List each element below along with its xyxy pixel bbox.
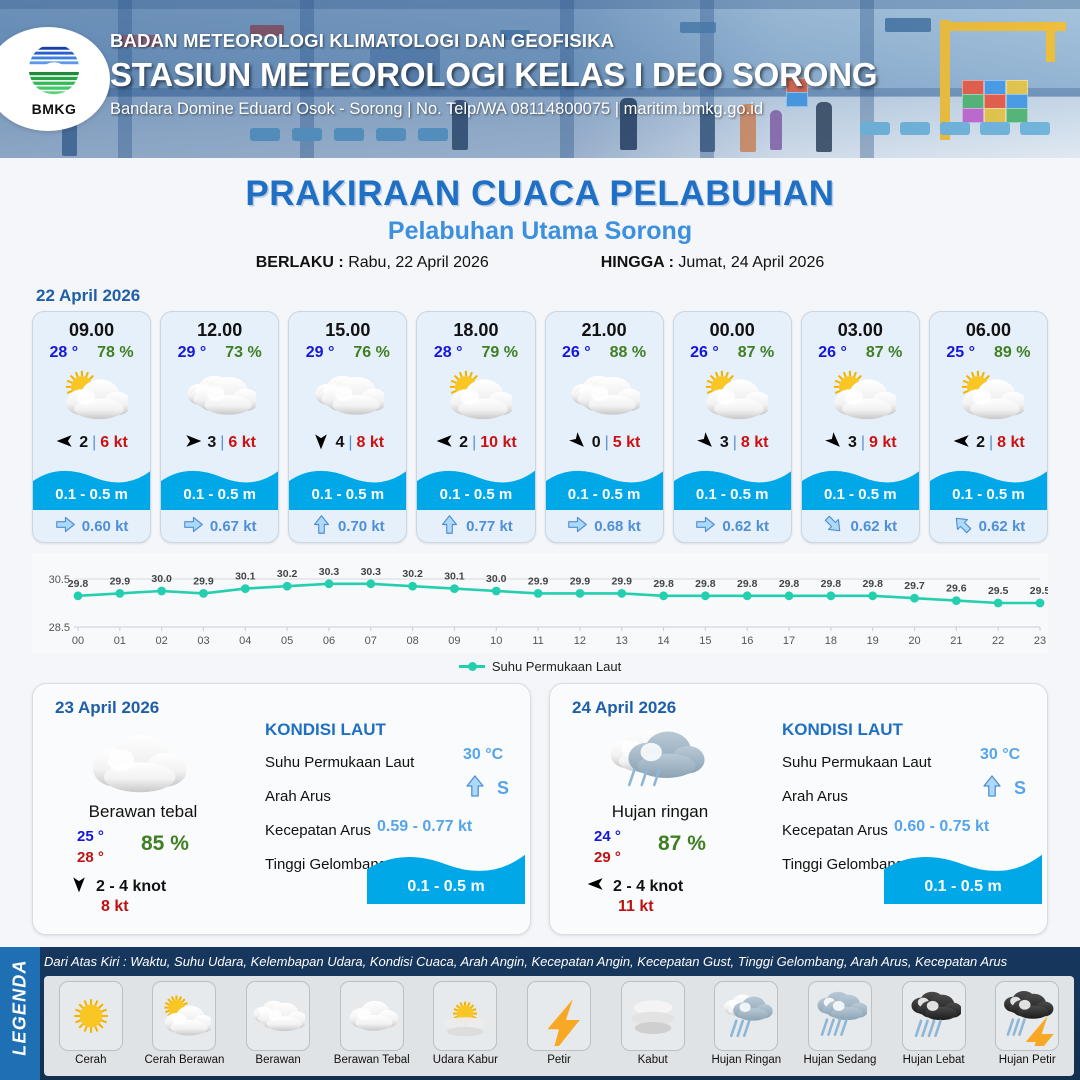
- card-wave-height: 0.1 - 0.5 m: [930, 486, 1047, 503]
- weather-hujan-petir-icon: [995, 981, 1059, 1051]
- legend-item-label: Hujan Sedang: [803, 1054, 876, 1066]
- legend-item: Cerah Berawan: [138, 976, 232, 1076]
- wind-direction-arrow-icon: [568, 431, 588, 456]
- card-wave-height: 0.1 - 0.5 m: [674, 486, 791, 503]
- card-wind: 2 | 8 kt: [930, 426, 1047, 460]
- card-temp-humidity: 28 ° 79 %: [417, 341, 534, 362]
- hourly-card: 12.00 29 ° 73 % 3 | 6 kt 0.1 - 0.5 m: [160, 311, 279, 543]
- weather-hujan-lebat-icon: [902, 981, 966, 1051]
- svg-text:29.8: 29.8: [821, 578, 842, 590]
- sea-value-wave: 0.1 - 0.5 m: [884, 844, 1042, 904]
- weather-udara-kabur-icon: [433, 981, 497, 1051]
- svg-text:21: 21: [950, 635, 962, 647]
- card-humidity: 76 %: [353, 344, 389, 362]
- svg-text:18: 18: [825, 635, 837, 647]
- weather-cerah-berawan-icon: [802, 364, 919, 426]
- daily-temp-max: 28 °: [77, 847, 104, 868]
- card-temperature: 29 °: [178, 344, 207, 362]
- current-direction-arrow-icon: [567, 514, 588, 539]
- wind-direction-arrow-icon: [311, 431, 331, 456]
- current-direction-arrow-icon: [952, 514, 973, 539]
- card-temperature: 26 °: [562, 344, 591, 362]
- card-wind-speed: 2: [79, 434, 88, 452]
- legend-icon-panel: Cerah Cerah Berawan Berawan: [44, 976, 1074, 1076]
- card-wave-height: 0.1 - 0.5 m: [33, 486, 150, 503]
- card-gust: 6 kt: [228, 434, 256, 452]
- card-hour: 18.00: [417, 312, 534, 341]
- card-wind-speed: 2: [976, 434, 985, 452]
- chart-legend: Suhu Permukaan Laut: [0, 659, 1080, 674]
- card-temp-humidity: 26 ° 87 %: [802, 341, 919, 362]
- legend-item: Berawan: [231, 976, 325, 1076]
- legend-item-label: Berawan: [255, 1054, 300, 1066]
- daily-condition: Hujan ringan: [550, 802, 770, 822]
- weather-cerah-berawan-icon: [152, 981, 216, 1051]
- legend-side-label: LEGENDA: [10, 958, 31, 1058]
- card-wind-speed: 4: [335, 434, 344, 452]
- card-wave-height: 0.1 - 0.5 m: [161, 486, 278, 503]
- weather-berawan-icon: [246, 981, 310, 1051]
- svg-text:30.3: 30.3: [361, 566, 382, 578]
- wind-direction-arrow-icon: [435, 431, 455, 456]
- daily-gust: 11 kt: [618, 898, 654, 916]
- daily-temp-min: 24 °: [594, 826, 621, 847]
- daily-temps: 24 ° 29 °: [594, 826, 621, 868]
- card-current-speed: 0.77 kt: [466, 518, 513, 535]
- current-dir-label: S: [497, 778, 509, 799]
- svg-text:30.2: 30.2: [277, 568, 298, 580]
- daily-humidity: 85 %: [141, 832, 189, 856]
- card-gust: 10 kt: [480, 434, 516, 452]
- page-header: BMKG BADAN METEOROLOGI KLIMATOLOGI DAN G…: [0, 0, 1080, 158]
- legend-item-label: Berawan Tebal: [334, 1054, 410, 1066]
- legend-bar: LEGENDA Dari Atas Kiri : Waktu, Suhu Uda…: [0, 947, 1080, 1080]
- card-wind-speed: 3: [848, 434, 857, 452]
- daily-humidity: 87 %: [658, 832, 706, 856]
- bmkg-logo-mark: [25, 42, 83, 100]
- current-direction-arrow-icon: [695, 514, 716, 539]
- svg-text:07: 07: [365, 635, 377, 647]
- sea-wave-label: 0.1 - 0.5 m: [367, 878, 525, 896]
- daily-wind: 2 - 4 knot: [69, 874, 166, 899]
- weather-cerah-icon: [59, 981, 123, 1051]
- card-wave: 0.1 - 0.5 m: [417, 460, 534, 510]
- card-wind: 3 | 8 kt: [674, 426, 791, 460]
- card-gust: 8 kt: [741, 434, 769, 452]
- card-temp-humidity: 26 ° 88 %: [546, 341, 663, 362]
- svg-text:23: 23: [1034, 635, 1046, 647]
- weather-berawan-icon: [161, 364, 278, 426]
- svg-text:29.9: 29.9: [528, 575, 549, 587]
- sea-value-current-speed: 0.59 - 0.77 kt: [377, 818, 472, 836]
- card-hour: 21.00: [546, 312, 663, 341]
- svg-text:02: 02: [156, 635, 168, 647]
- hourly-card: 03.00 26 ° 87 % 3 | 9 kt 0.1 - 0.5 m 0.6…: [801, 311, 920, 543]
- sea-value-current-dir: S: [463, 774, 509, 803]
- weather-berawan-icon: [546, 364, 663, 426]
- current-direction-arrow-icon: [439, 514, 460, 539]
- card-current: 0.62 kt: [802, 510, 919, 542]
- svg-text:29.5: 29.5: [1030, 585, 1048, 597]
- svg-text:29.8: 29.8: [695, 578, 716, 590]
- sea-condition-title: KONDISI LAUT: [782, 720, 903, 740]
- svg-text:22: 22: [992, 635, 1004, 647]
- card-wave-height: 0.1 - 0.5 m: [546, 486, 663, 503]
- daily-gust: 8 kt: [101, 898, 129, 916]
- weather-cerah-berawan-icon: [33, 364, 150, 426]
- legend-item: Berawan Tebal: [325, 976, 419, 1076]
- infographic-page: BMKG BADAN METEOROLOGI KLIMATOLOGI DAN G…: [0, 0, 1080, 1080]
- svg-text:29.5: 29.5: [988, 585, 1009, 597]
- card-temp-humidity: 29 ° 76 %: [289, 341, 406, 362]
- chart-legend-marker: [459, 665, 485, 668]
- weather-hujan-sedang-icon: [808, 981, 872, 1051]
- card-hour: 09.00: [33, 312, 150, 341]
- sea-value-wave: 0.1 - 0.5 m: [367, 844, 525, 904]
- current-dir-label: S: [1014, 778, 1026, 799]
- svg-text:09: 09: [448, 635, 460, 647]
- legend-item: Kabut: [606, 976, 700, 1076]
- page-title: PRAKIRAAN CUACA PELABUHAN: [0, 174, 1080, 214]
- card-separator: |: [605, 434, 609, 452]
- svg-text:15: 15: [699, 635, 711, 647]
- wind-direction-arrow-icon: [69, 874, 89, 899]
- card-separator: |: [989, 434, 993, 452]
- card-current: 0.67 kt: [161, 510, 278, 542]
- card-gust: 5 kt: [613, 434, 641, 452]
- card-humidity: 87 %: [866, 344, 902, 362]
- card-humidity: 89 %: [994, 344, 1030, 362]
- hourly-card: 06.00 25 ° 89 % 2 | 8 kt 0.1 - 0.5 m 0.6…: [929, 311, 1048, 543]
- current-direction-arrow-icon: [183, 514, 204, 539]
- card-gust: 6 kt: [100, 434, 128, 452]
- svg-text:29.9: 29.9: [570, 575, 591, 587]
- card-humidity: 87 %: [738, 344, 774, 362]
- svg-text:14: 14: [657, 635, 669, 647]
- weather-berawan-tebal-icon: [340, 981, 404, 1051]
- current-direction-arrow-icon: [980, 774, 1004, 803]
- card-temperature: 28 °: [434, 344, 463, 362]
- daily-temps: 25 ° 28 °: [77, 826, 104, 868]
- card-wind-speed: 0: [592, 434, 601, 452]
- legend-item: Udara Kabur: [419, 976, 513, 1076]
- valid-until-value: Jumat, 24 April 2026: [678, 254, 824, 271]
- legend-item-label: Hujan Ringan: [711, 1054, 781, 1066]
- svg-text:30.0: 30.0: [151, 573, 172, 585]
- card-wind: 2 | 10 kt: [417, 426, 534, 460]
- weather-hujan-ringan-icon: [714, 981, 778, 1051]
- card-wave: 0.1 - 0.5 m: [289, 460, 406, 510]
- current-direction-arrow-icon: [311, 514, 332, 539]
- card-wind-speed: 3: [207, 434, 216, 452]
- card-wind-speed: 2: [459, 434, 468, 452]
- legend-item-label: Udara Kabur: [433, 1054, 498, 1066]
- legend-item-label: Petir: [547, 1054, 571, 1066]
- card-hour: 15.00: [289, 312, 406, 341]
- svg-text:30.0: 30.0: [486, 573, 507, 585]
- svg-text:29.8: 29.8: [737, 578, 758, 590]
- daily-panels: 23 April 2026 Berawan tebal 25 ° 28 ° 85…: [0, 674, 1080, 935]
- wind-direction-arrow-icon: [586, 874, 606, 899]
- card-current-speed: 0.60 kt: [82, 518, 129, 535]
- legend-item-label: Cerah Berawan: [145, 1054, 225, 1066]
- wind-direction-arrow-icon: [696, 431, 716, 456]
- agency-name: BADAN METEOROLOGI KLIMATOLOGI DAN GEOFIS…: [110, 30, 1040, 52]
- svg-text:30.2: 30.2: [402, 568, 423, 580]
- weather-berawan-icon: [289, 364, 406, 426]
- card-hour: 06.00: [930, 312, 1047, 341]
- daily-wind-speed: 2 - 4 knot: [613, 878, 683, 896]
- card-current: 0.77 kt: [417, 510, 534, 542]
- station-name: STASIUN METEOROLOGI KELAS I DEO SORONG: [110, 56, 1040, 94]
- card-temp-humidity: 29 ° 73 %: [161, 341, 278, 362]
- card-temp-humidity: 26 ° 87 %: [674, 341, 791, 362]
- title-block: PRAKIRAAN CUACA PELABUHAN Pelabuhan Utam…: [0, 174, 1080, 272]
- card-wave-height: 0.1 - 0.5 m: [289, 486, 406, 503]
- card-separator: |: [92, 434, 96, 452]
- card-gust: 8 kt: [997, 434, 1025, 452]
- wind-direction-arrow-icon: [824, 431, 844, 456]
- legend-item: Hujan Sedang: [793, 976, 887, 1076]
- card-current-speed: 0.62 kt: [850, 518, 897, 535]
- weather-hujan-ringan-icon: [598, 726, 708, 802]
- legend-item: Hujan Petir: [980, 976, 1074, 1076]
- page-subtitle: Pelabuhan Utama Sorong: [0, 217, 1080, 246]
- daily-date: 23 April 2026: [55, 698, 159, 718]
- card-wind-speed: 3: [720, 434, 729, 452]
- svg-text:28.5: 28.5: [49, 622, 70, 634]
- hourly-card: 18.00 28 ° 79 % 2 | 10 kt 0.1 - 0.5 m 0.…: [416, 311, 535, 543]
- card-wind: 4 | 8 kt: [289, 426, 406, 460]
- hourly-card: 00.00 26 ° 87 % 3 | 8 kt 0.1 - 0.5 m 0.6…: [673, 311, 792, 543]
- daily-condition: Berawan tebal: [33, 802, 253, 822]
- daily-temp-min: 25 °: [77, 826, 104, 847]
- svg-text:29.8: 29.8: [68, 578, 89, 590]
- card-separator: |: [861, 434, 865, 452]
- card-separator: |: [472, 434, 476, 452]
- svg-text:12: 12: [574, 635, 586, 647]
- svg-text:29.9: 29.9: [193, 575, 214, 587]
- card-wave: 0.1 - 0.5 m: [930, 460, 1047, 510]
- sea-value-sst: 30 °C: [463, 746, 503, 764]
- card-temp-humidity: 25 ° 89 %: [930, 341, 1047, 362]
- validity-row: BERLAKU : Rabu, 22 April 2026 HINGGA : J…: [0, 254, 1080, 272]
- legend-side-tab: LEGENDA: [0, 947, 40, 1080]
- svg-text:30.5: 30.5: [49, 574, 70, 586]
- svg-text:30.1: 30.1: [444, 571, 465, 583]
- card-humidity: 78 %: [97, 344, 133, 362]
- valid-until: HINGGA : Jumat, 24 April 2026: [601, 254, 825, 272]
- weather-cerah-berawan-icon: [930, 364, 1047, 426]
- daily-date: 24 April 2026: [572, 698, 676, 718]
- card-temperature: 26 °: [818, 344, 847, 362]
- legend-item: Hujan Ringan: [699, 976, 793, 1076]
- legend-item: Hujan Lebat: [887, 976, 981, 1076]
- legend-item-label: Hujan Lebat: [903, 1054, 965, 1066]
- valid-from-label: BERLAKU :: [256, 254, 344, 271]
- legend-item-label: Cerah: [75, 1054, 106, 1066]
- legend-item-label: Hujan Petir: [999, 1054, 1056, 1066]
- card-current-speed: 0.70 kt: [338, 518, 385, 535]
- card-wind: 2 | 6 kt: [33, 426, 150, 460]
- svg-text:08: 08: [406, 635, 418, 647]
- svg-text:04: 04: [239, 635, 251, 647]
- weather-kabut-icon: [621, 981, 685, 1051]
- chart-legend-label: Suhu Permukaan Laut: [492, 659, 621, 674]
- card-hour: 03.00: [802, 312, 919, 341]
- card-humidity: 88 %: [610, 344, 646, 362]
- sea-condition-title: KONDISI LAUT: [265, 720, 386, 740]
- svg-text:29.9: 29.9: [612, 575, 633, 587]
- svg-text:17: 17: [783, 635, 795, 647]
- svg-text:05: 05: [281, 635, 293, 647]
- hourly-card: 09.00 28 ° 78 % 2 | 6 kt 0.1 - 0.5 m 0.6…: [32, 311, 151, 543]
- card-separator: |: [220, 434, 224, 452]
- card-temperature: 26 °: [690, 344, 719, 362]
- svg-text:29.6: 29.6: [946, 583, 967, 595]
- legend-note: Dari Atas Kiri : Waktu, Suhu Udara, Kele…: [44, 954, 1007, 969]
- valid-from-value: Rabu, 22 April 2026: [348, 254, 489, 271]
- hourly-card-row: 09.00 28 ° 78 % 2 | 6 kt 0.1 - 0.5 m 0.6…: [0, 311, 1080, 543]
- card-current: 0.70 kt: [289, 510, 406, 542]
- card-temperature: 28 °: [50, 344, 79, 362]
- weather-cerah-berawan-icon: [674, 364, 791, 426]
- card-wave-height: 0.1 - 0.5 m: [802, 486, 919, 503]
- valid-until-label: HINGGA :: [601, 254, 674, 271]
- card-current: 0.62 kt: [930, 510, 1047, 542]
- svg-text:11: 11: [532, 635, 543, 647]
- legend-item: Cerah: [44, 976, 138, 1076]
- sea-wave-label: 0.1 - 0.5 m: [884, 878, 1042, 896]
- card-humidity: 73 %: [225, 344, 261, 362]
- svg-text:29.8: 29.8: [862, 578, 883, 590]
- bmkg-logo-text: BMKG: [32, 101, 77, 117]
- card-wind: 3 | 9 kt: [802, 426, 919, 460]
- card-wave-height: 0.1 - 0.5 m: [417, 486, 534, 503]
- wind-direction-arrow-icon: [55, 431, 75, 456]
- svg-text:29.9: 29.9: [110, 575, 131, 587]
- card-temperature: 29 °: [306, 344, 335, 362]
- wind-direction-arrow-icon: [183, 431, 203, 456]
- daily-wind-speed: 2 - 4 knot: [96, 878, 166, 896]
- svg-text:06: 06: [323, 635, 335, 647]
- current-direction-arrow-icon: [463, 774, 487, 803]
- card-humidity: 79 %: [482, 344, 518, 362]
- card-gust: 9 kt: [869, 434, 897, 452]
- svg-text:29.8: 29.8: [653, 578, 674, 590]
- card-wind: 0 | 5 kt: [546, 426, 663, 460]
- card-current: 0.60 kt: [33, 510, 150, 542]
- svg-text:30.3: 30.3: [319, 566, 340, 578]
- contact-line: Bandara Domine Eduard Osok - Sorong | No…: [110, 100, 1040, 119]
- legend-item-label: Kabut: [638, 1054, 668, 1066]
- svg-text:29.8: 29.8: [779, 578, 800, 590]
- svg-text:30.1: 30.1: [235, 571, 256, 583]
- svg-text:16: 16: [741, 635, 753, 647]
- svg-text:03: 03: [197, 635, 209, 647]
- current-direction-arrow-icon: [55, 514, 76, 539]
- daily-panel: 23 April 2026 Berawan tebal 25 ° 28 ° 85…: [32, 683, 531, 935]
- card-separator: |: [348, 434, 352, 452]
- sea-value-current-speed: 0.60 - 0.75 kt: [894, 818, 989, 836]
- hourly-card: 21.00 26 ° 88 % 0 | 5 kt 0.1 - 0.5 m: [545, 311, 664, 543]
- svg-text:01: 01: [114, 635, 126, 647]
- card-gust: 8 kt: [357, 434, 385, 452]
- card-current-speed: 0.67 kt: [210, 518, 257, 535]
- weather-petir-icon: [527, 981, 591, 1051]
- card-wave: 0.1 - 0.5 m: [546, 460, 663, 510]
- daily-wind: 2 - 4 knot: [586, 874, 683, 899]
- sst-chart: 30.528.529.80029.90130.00229.90330.10430…: [32, 553, 1048, 653]
- hourly-date: 22 April 2026: [36, 286, 1080, 306]
- valid-from: BERLAKU : Rabu, 22 April 2026: [256, 254, 489, 272]
- sea-value-sst: 30 °C: [980, 746, 1020, 764]
- card-current: 0.62 kt: [674, 510, 791, 542]
- svg-text:20: 20: [908, 635, 920, 647]
- card-current-speed: 0.62 kt: [979, 518, 1026, 535]
- card-wave: 0.1 - 0.5 m: [161, 460, 278, 510]
- weather-berawan-tebal-icon: [81, 726, 191, 802]
- header-text-block: BADAN METEOROLOGI KLIMATOLOGI DAN GEOFIS…: [110, 30, 1040, 119]
- svg-text:19: 19: [867, 635, 879, 647]
- card-separator: |: [733, 434, 737, 452]
- card-hour: 12.00: [161, 312, 278, 341]
- card-wind: 3 | 6 kt: [161, 426, 278, 460]
- card-current: 0.68 kt: [546, 510, 663, 542]
- current-direction-arrow-icon: [823, 514, 844, 539]
- card-current-speed: 0.62 kt: [722, 518, 769, 535]
- svg-text:10: 10: [490, 635, 502, 647]
- svg-text:29.7: 29.7: [904, 580, 925, 592]
- daily-panel: 24 April 2026 Hujan ringan 24 ° 29 ° 87 …: [549, 683, 1048, 935]
- card-wave: 0.1 - 0.5 m: [33, 460, 150, 510]
- hourly-card: 15.00 29 ° 76 % 4 | 8 kt 0.1 - 0.5 m: [288, 311, 407, 543]
- card-temperature: 25 °: [946, 344, 975, 362]
- legend-item: Petir: [512, 976, 606, 1076]
- weather-cerah-berawan-icon: [417, 364, 534, 426]
- sea-value-current-dir: S: [980, 774, 1026, 803]
- card-temp-humidity: 28 ° 78 %: [33, 341, 150, 362]
- card-wave: 0.1 - 0.5 m: [802, 460, 919, 510]
- daily-temp-max: 29 °: [594, 847, 621, 868]
- card-wave: 0.1 - 0.5 m: [674, 460, 791, 510]
- wind-direction-arrow-icon: [952, 431, 972, 456]
- card-hour: 00.00: [674, 312, 791, 341]
- svg-text:13: 13: [616, 635, 628, 647]
- card-current-speed: 0.68 kt: [594, 518, 641, 535]
- svg-text:00: 00: [72, 635, 84, 647]
